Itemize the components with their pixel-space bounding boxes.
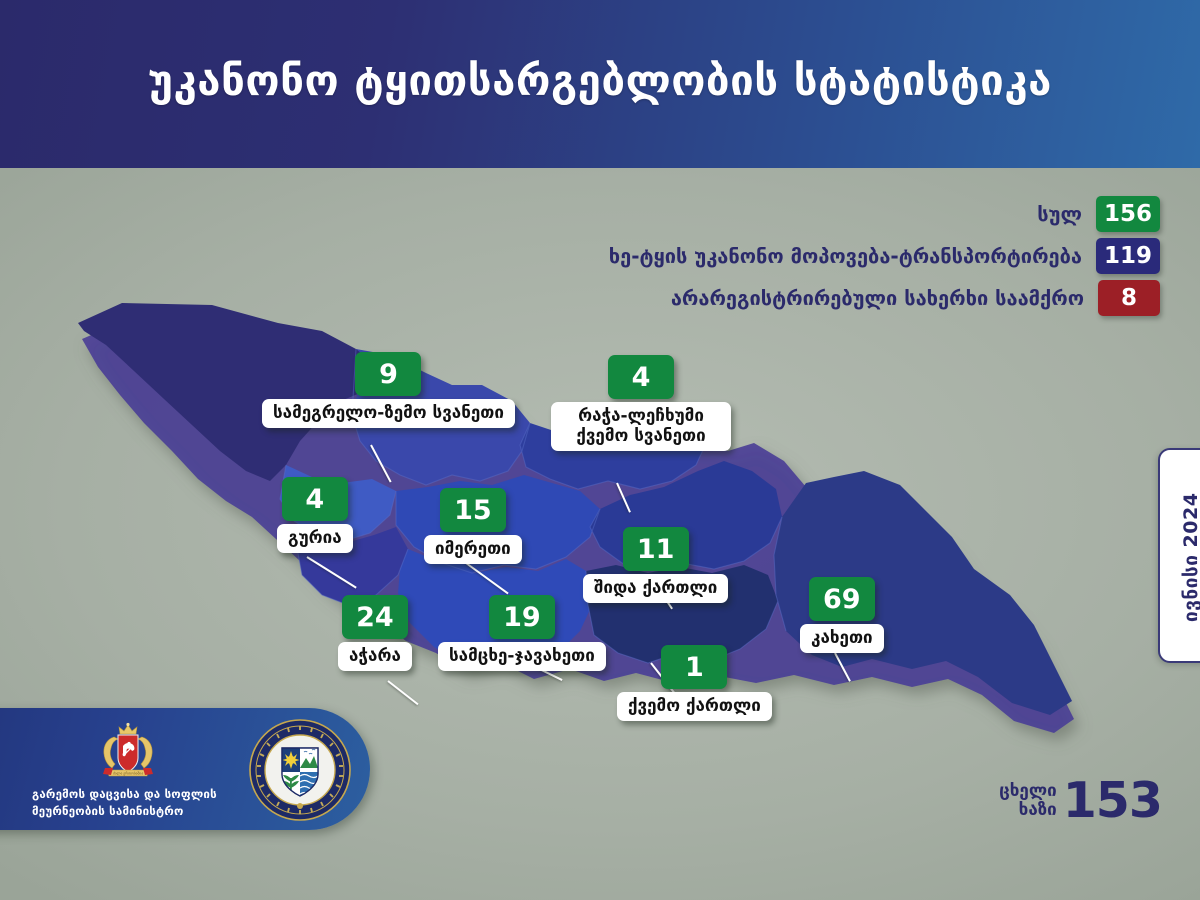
map-marker-label: აჭარა [338,642,412,671]
map-marker-value: 15 [440,488,506,532]
map-marker-label: ქვემო ქართლი [617,692,772,721]
map-marker-value: 4 [608,355,674,399]
map-marker-label: სამცხე-ჯავახეთი [438,642,606,671]
map-marker-value: 4 [282,477,348,521]
infographic-canvas: უკანონო ტყითსარგებლობის სტატისტიკა სულ 1… [0,0,1200,900]
ministry-name: გარემოს დაცვისა და სოფლის მეურნეობის სამ… [32,786,247,821]
map-marker-value: 19 [489,595,555,639]
svg-text:ძალა ერთობაშია: ძალა ერთობაშია [113,772,143,776]
hotline-label-line2: ხაზი [999,801,1057,820]
map-marker-label: შიდა ქართლი [583,574,728,603]
hotline-number: 153 [1063,778,1162,823]
legend: სულ 156 ხე-ტყის უკანონო მოპოვება-ტრანსპო… [380,196,1160,316]
environment-agency-seal-icon [248,718,352,822]
date-badge: ივნისი 2024 [1158,448,1200,663]
hotline: ცხელი ხაზი 153 [999,778,1162,823]
map-marker-samegrelo[interactable]: 9 სამეგრელო-ზემო სვანეთი [262,352,515,428]
map-marker-guria[interactable]: 4 გურია [277,477,353,553]
legend-label-logging: ხე-ტყის უკანონო მოპოვება-ტრანსპორტირება [609,244,1082,268]
legend-badge-sawmill: 8 [1098,280,1160,316]
map-marker-value: 24 [342,595,408,639]
map-marker-kakheti[interactable]: 69 კახეთი [800,577,884,653]
legend-label-sawmill: არარეგისტრირებული სახერხი საამქრო [671,286,1084,310]
map-marker-value: 9 [355,352,421,396]
legend-row-logging: ხე-ტყის უკანონო მოპოვება-ტრანსპორტირება … [380,238,1160,274]
hotline-label-line1: ცხელი [999,782,1057,801]
map-marker-label: იმერეთი [424,535,522,564]
map-marker-value: 69 [809,577,875,621]
map-marker-samtskhe[interactable]: 19 სამცხე-ჯავახეთი [438,595,606,671]
georgia-coat-of-arms-icon: ძალა ერთობაშია [95,722,161,784]
legend-badge-logging: 119 [1096,238,1160,274]
map-marker-adjara[interactable]: 24 აჭარა [338,595,412,671]
page-title: უკანონო ტყითსარგებლობის სტატისტიკა [0,0,1200,160]
legend-badge-total: 156 [1096,196,1160,232]
ministry-name-line2: მეურნეობის სამინისტრო [32,803,247,820]
hotline-label: ცხელი ხაზი [999,782,1057,820]
legend-label-total: სულ [1037,202,1082,226]
map-marker-label: სამეგრელო-ზემო სვანეთი [262,399,515,428]
map-marker-label: გურია [277,524,353,553]
map-marker-label: რაჭა-ლეჩხუმი ქვემო სვანეთი [551,402,731,451]
map-marker-shida-kartli[interactable]: 11 შიდა ქართლი [583,527,728,603]
date-badge-label: ივნისი 2024 [1160,450,1200,665]
georgia-choropleth-map [60,275,1120,775]
map-svg [60,275,1120,775]
map-marker-value: 1 [661,645,727,689]
map-marker-kvemo-kartli[interactable]: 1 ქვემო ქართლი [617,645,772,721]
map-marker-imereti[interactable]: 15 იმერეთი [424,488,522,564]
map-marker-racha[interactable]: 4 რაჭა-ლეჩხუმი ქვემო სვანეთი [551,355,731,451]
map-marker-value: 11 [623,527,689,571]
map-marker-label: კახეთი [800,624,884,653]
ministry-name-line1: გარემოს დაცვისა და სოფლის [32,786,247,803]
legend-row-sawmill: არარეგისტრირებული სახერხი საამქრო 8 [380,280,1160,316]
legend-row-total: სულ 156 [380,196,1160,232]
